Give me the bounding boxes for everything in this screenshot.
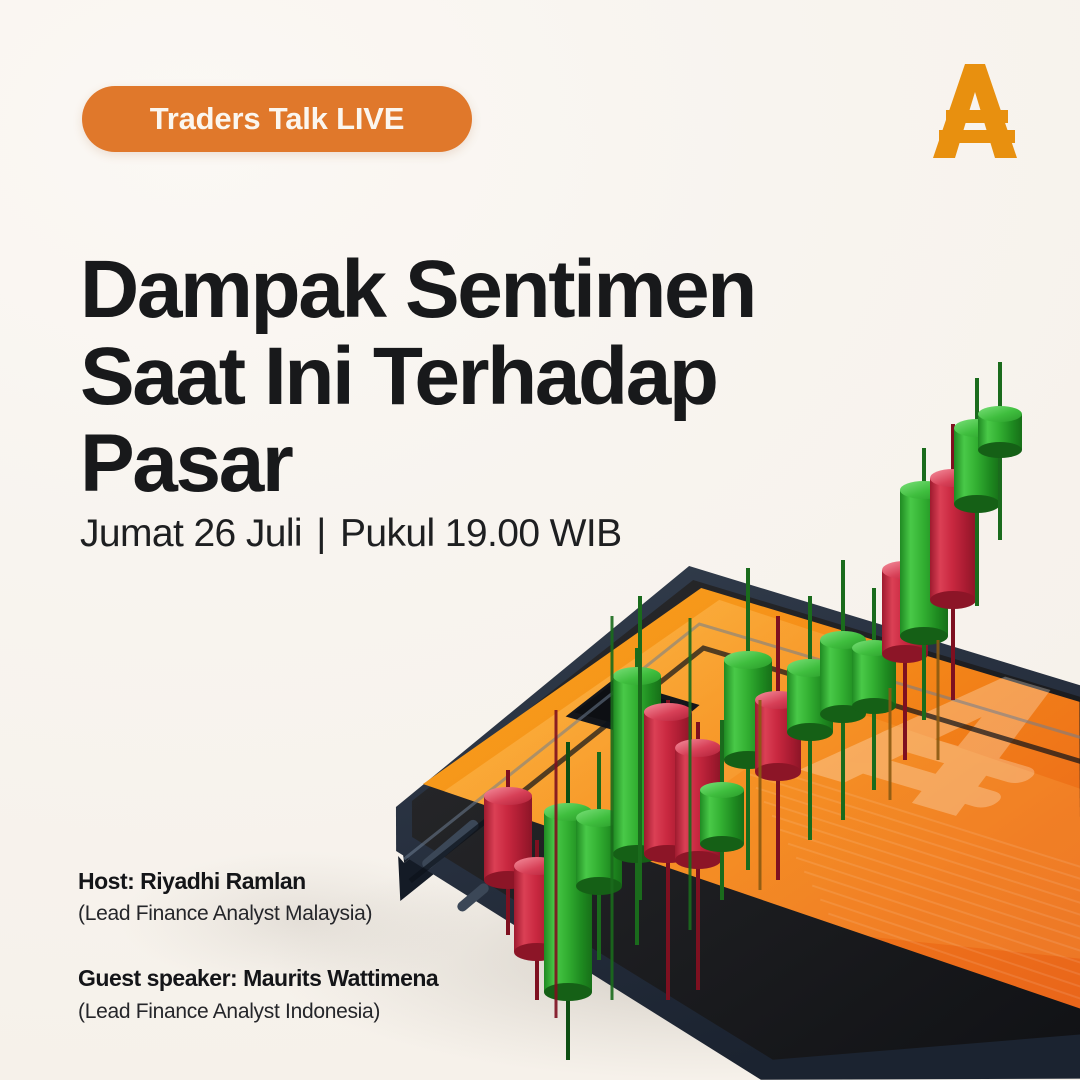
candle-3 [544, 742, 592, 1060]
austral-a-logo-icon [925, 58, 1025, 163]
candle-9 [700, 720, 744, 900]
host-role: (Lead Finance Analyst Malaysia) [78, 899, 548, 929]
badge-label: Traders Talk LIVE [150, 101, 404, 137]
candle-6 [644, 700, 692, 1000]
candle-12 [787, 596, 833, 840]
candle-19 [978, 362, 1022, 540]
candle-4 [576, 752, 622, 960]
guest-name: Guest speaker: Maurits Wattimena [78, 963, 548, 994]
page-title: Dampak Sentimen Saat Ini Terhadap Pasar [80, 247, 840, 508]
candle-5 [613, 648, 661, 945]
candle-15 [882, 510, 928, 760]
candle-17 [930, 424, 976, 700]
poster-canvas: Traders Talk LIVE Dampak Sentimen Saat I… [0, 0, 1080, 1080]
guest-credit: Guest speaker: Maurits Wattimena (Lead F… [78, 963, 548, 1026]
traders-talk-live-badge[interactable]: Traders Talk LIVE [82, 86, 472, 152]
event-date: Jumat 26 Juli [80, 512, 302, 555]
headline-line-2: Saat Ini Terhadap [80, 334, 840, 421]
headline-line-1: Dampak Sentimen [80, 247, 840, 334]
speaker-credits: Host: Riyadhi Ramlan (Lead Finance Analy… [78, 866, 548, 1061]
candle-13 [820, 560, 866, 820]
host-credit: Host: Riyadhi Ramlan (Lead Finance Analy… [78, 866, 548, 929]
candle-11 [755, 616, 801, 880]
event-datetime: Jumat 26 Juli | Pukul 19.00 WIB [80, 512, 622, 556]
candle-10 [724, 568, 772, 870]
screen-logo-watermark [800, 659, 1080, 821]
datetime-separator: | [312, 512, 330, 555]
event-time: Pukul 19.00 WIB [340, 512, 621, 555]
candle-7 [675, 722, 721, 990]
guest-role: (Lead Finance Analyst Indonesia) [78, 997, 548, 1027]
host-name: Host: Riyadhi Ramlan [78, 866, 548, 897]
headline-line-3: Pasar [80, 421, 840, 508]
candle-18 [954, 378, 1000, 606]
candle-16 [900, 448, 948, 720]
brand-logo [925, 58, 1025, 163]
candle-14 [852, 588, 896, 790]
